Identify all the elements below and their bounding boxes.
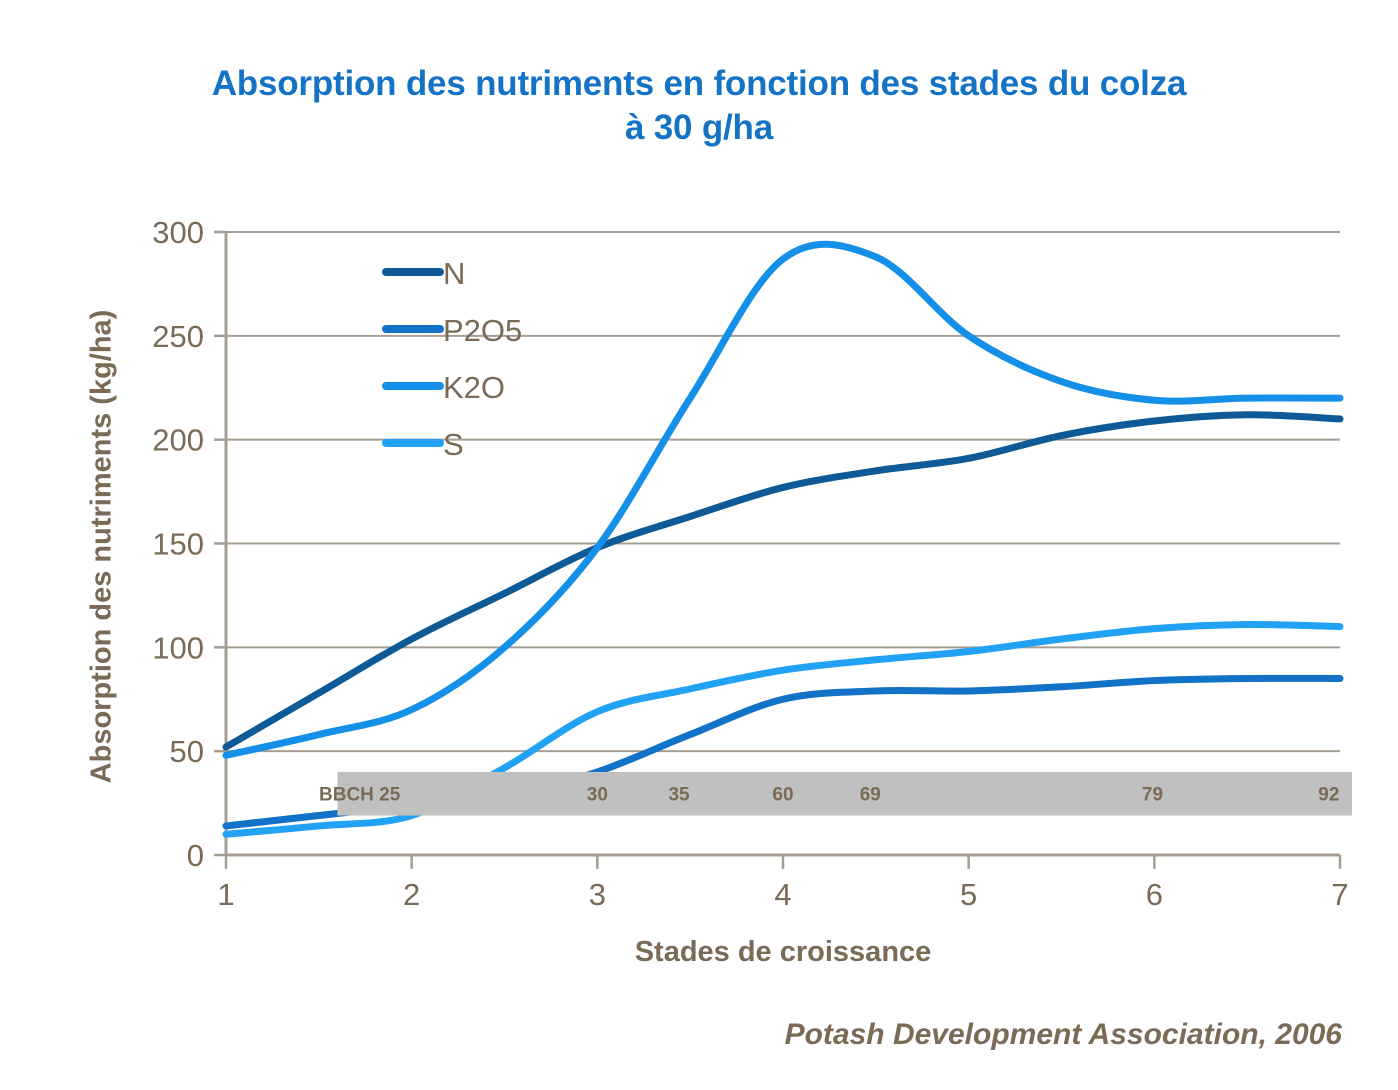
y-tick-labels-group: 050100150200250300 bbox=[152, 215, 226, 873]
y-tick-label: 150 bbox=[152, 527, 204, 562]
chart-plot-area: 050100150200250300 1234567 BBCH 25303560… bbox=[0, 0, 1398, 1090]
legend-label-n: N bbox=[443, 256, 465, 291]
y-tick-label: 0 bbox=[187, 838, 204, 873]
x-tick-labels-group: 1234567 bbox=[217, 855, 1348, 912]
bbch-stage-label: 30 bbox=[587, 785, 608, 806]
chart-container: Absorption des nutriments en fonction de… bbox=[0, 0, 1398, 1090]
x-tick-label: 5 bbox=[960, 877, 977, 912]
legend-label-s: S bbox=[443, 427, 464, 462]
bbch-stage-label: 60 bbox=[772, 785, 793, 806]
annotation-band-group: BBCH 25303560697992 bbox=[319, 772, 1352, 816]
x-tick-label: 1 bbox=[217, 877, 234, 912]
x-tick-label: 3 bbox=[589, 877, 606, 912]
y-tick-label: 100 bbox=[152, 630, 204, 665]
bbch-stage-label: BBCH 25 bbox=[319, 785, 401, 806]
x-tick-label: 2 bbox=[403, 877, 420, 912]
x-tick-label: 4 bbox=[774, 877, 791, 912]
legend-label-p2o5: P2O5 bbox=[443, 313, 522, 348]
y-tick-label: 50 bbox=[170, 734, 204, 769]
bbch-stage-label: 69 bbox=[860, 785, 881, 806]
bbch-stage-label: 92 bbox=[1318, 785, 1339, 806]
y-tick-label: 200 bbox=[152, 423, 204, 458]
footer-credit: Potash Development Association, 2006 bbox=[0, 1018, 1342, 1052]
legend-label-k2o: K2O bbox=[443, 370, 505, 405]
y-tick-label: 300 bbox=[152, 215, 204, 250]
x-tick-label: 6 bbox=[1146, 877, 1163, 912]
x-tick-label: 7 bbox=[1331, 877, 1348, 912]
bbch-stage-label: 35 bbox=[668, 785, 690, 806]
y-tick-label: 250 bbox=[152, 319, 204, 354]
bbch-stage-label: 79 bbox=[1142, 785, 1163, 806]
legend-group: NP2O5K2OS bbox=[386, 256, 522, 462]
bbch-band bbox=[337, 772, 1352, 816]
